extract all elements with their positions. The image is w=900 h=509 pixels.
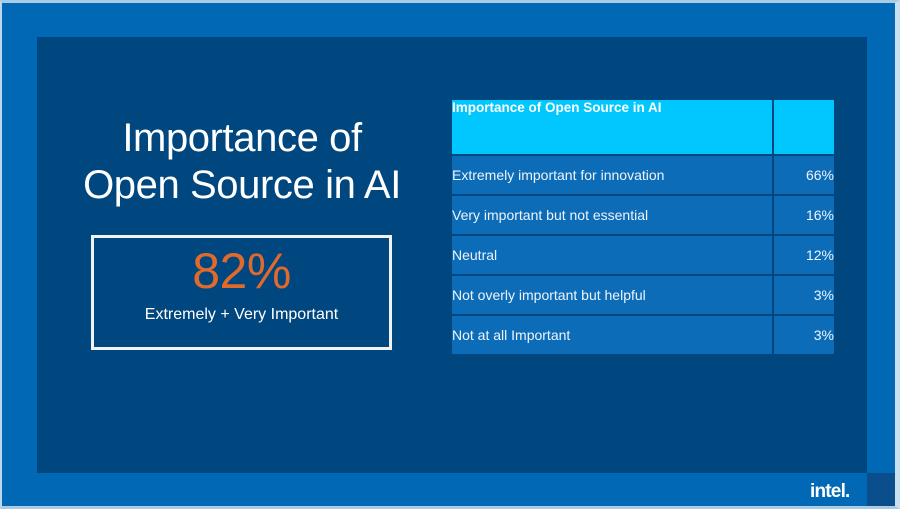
table-cell-label: Extremely important for innovation xyxy=(452,154,772,194)
table-row: Not overly important but helpful 3% xyxy=(452,274,834,314)
slide-canvas: Importance of Open Source in AI 82% Extr… xyxy=(0,0,900,509)
results-table: Importance of Open Source in AI Extremel… xyxy=(452,100,834,354)
table-row: Very important but not essential 16% xyxy=(452,194,834,234)
table-header-row: Importance of Open Source in AI xyxy=(452,100,834,154)
headline-stat-value: 82% xyxy=(94,246,389,296)
table-cell-label: Very important but not essential xyxy=(452,194,772,234)
table-cell-value: 66% xyxy=(772,154,834,194)
intel-logo: intel. xyxy=(810,481,850,503)
page-title: Importance of Open Source in AI xyxy=(62,115,422,209)
table-cell-value: 12% xyxy=(772,234,834,274)
corner-accent-square xyxy=(867,473,895,509)
headline-stat-label: Extremely + Very Important xyxy=(94,306,389,324)
table-header-label: Importance of Open Source in AI xyxy=(452,100,772,154)
headline-stat-box: 82% Extremely + Very Important xyxy=(91,235,392,350)
table-row: Extremely important for innovation 66% xyxy=(452,154,834,194)
table-cell-label: Not at all Important xyxy=(452,314,772,354)
table-header-value xyxy=(772,100,834,154)
table-row: Not at all Important 3% xyxy=(452,314,834,354)
table-cell-value: 16% xyxy=(772,194,834,234)
table-cell-value: 3% xyxy=(772,314,834,354)
table-cell-label: Not overly important but helpful xyxy=(452,274,772,314)
table-cell-label: Neutral xyxy=(452,234,772,274)
table-cell-value: 3% xyxy=(772,274,834,314)
table-row: Neutral 12% xyxy=(452,234,834,274)
